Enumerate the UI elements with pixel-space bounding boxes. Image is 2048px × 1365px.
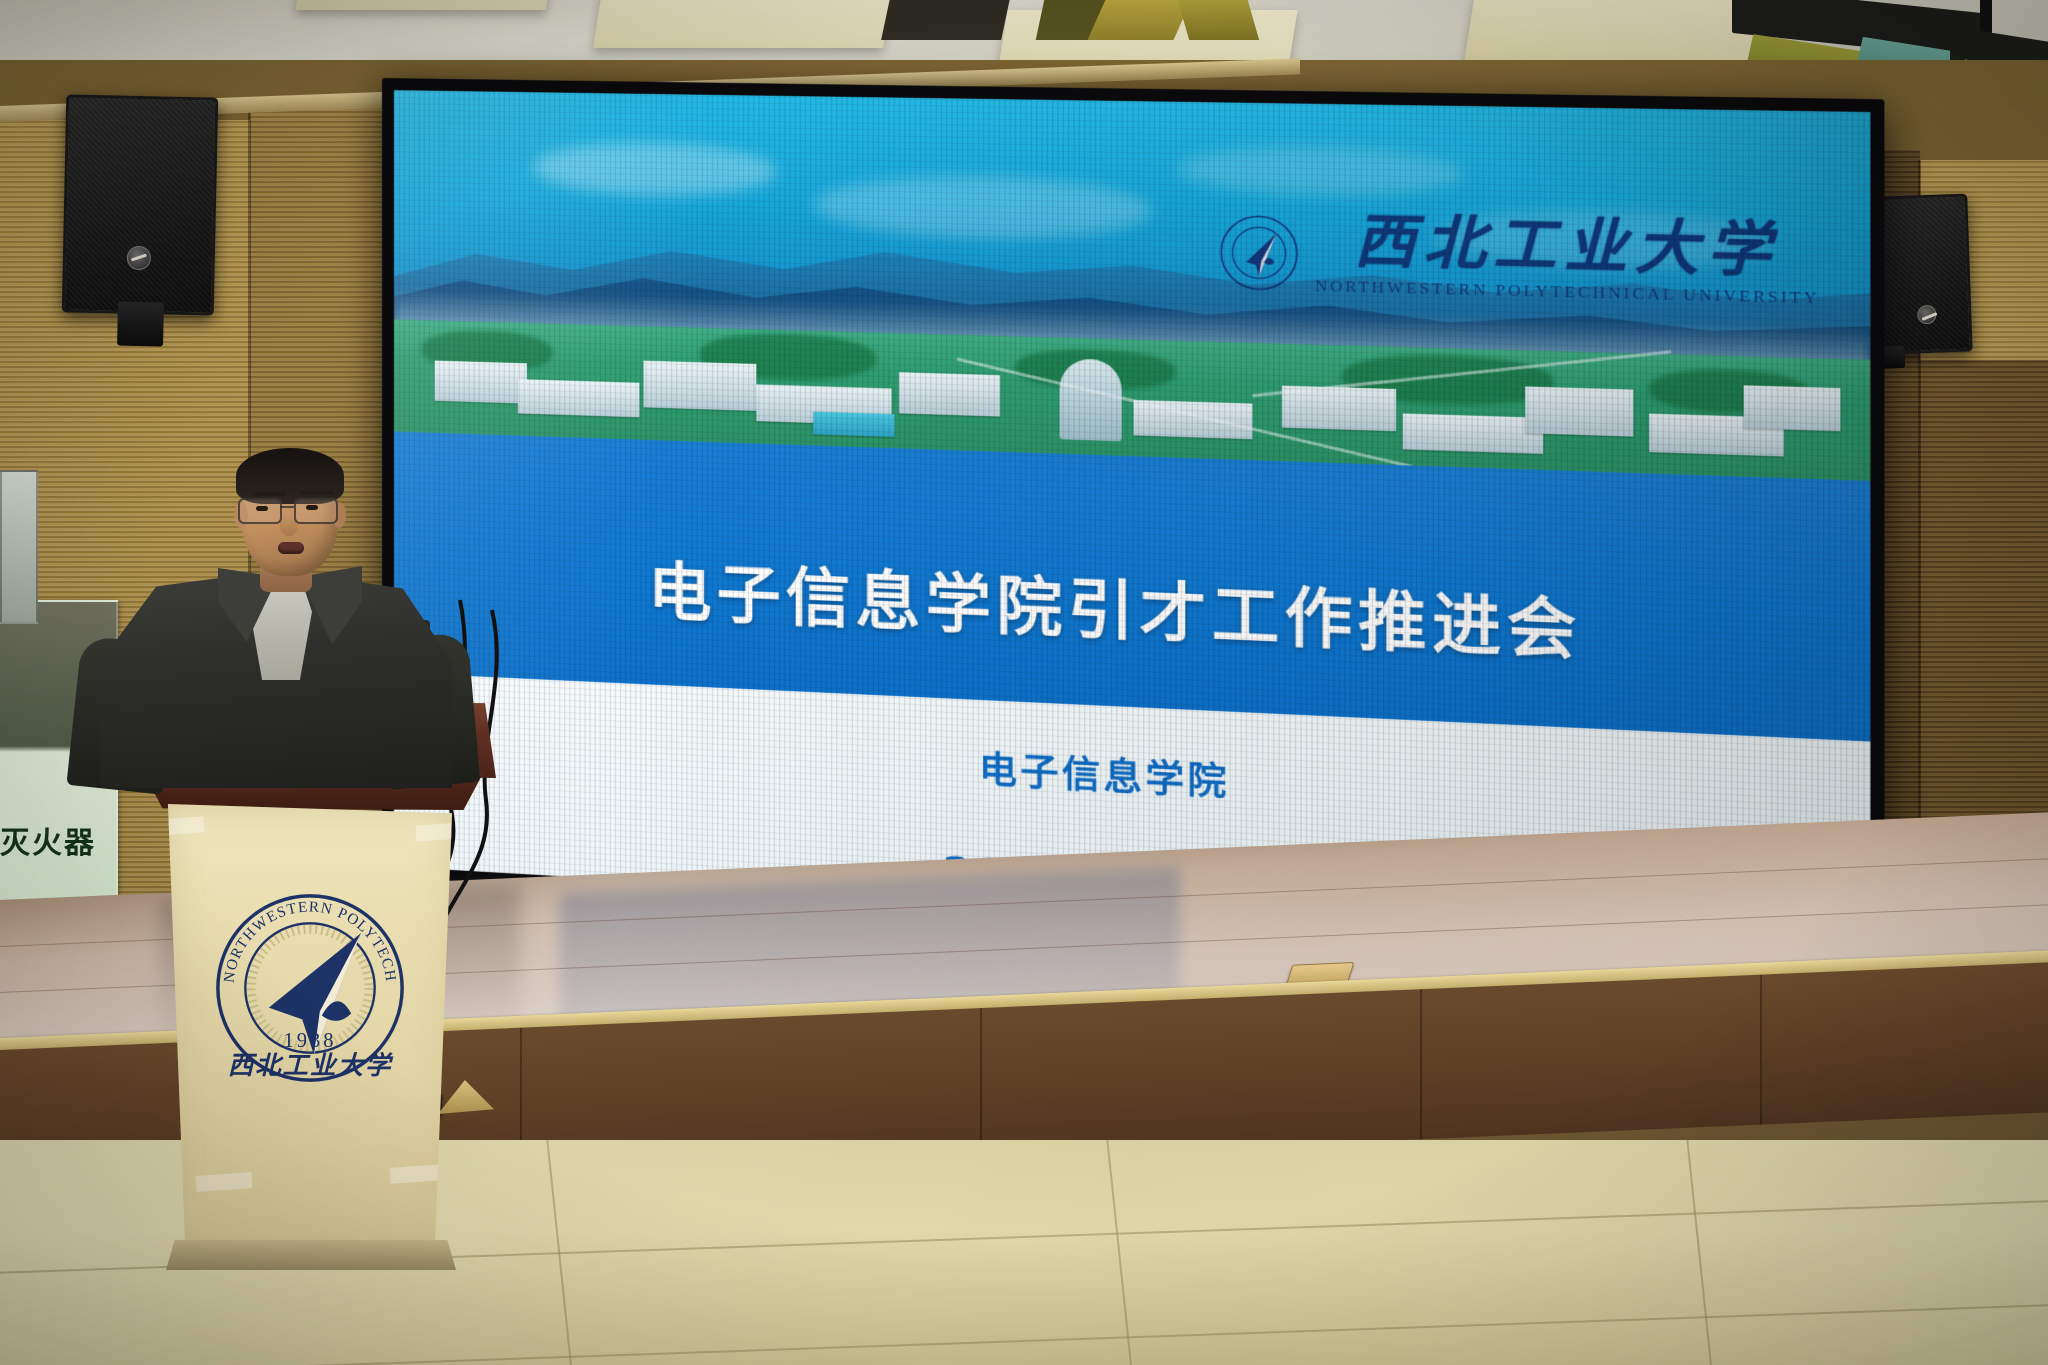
presenter-eyebrow [252,492,286,496]
lectern-base [166,1240,456,1270]
presenter [110,450,440,780]
stage-spotlight [1100,0,1270,54]
ceiling-coffer-panel [593,0,897,48]
presenter-mouth [278,542,304,554]
npu-seal-icon [1219,213,1300,292]
svg-text:西北工业大学: 西北工业大学 [228,1051,394,1081]
presenter-eye [256,506,268,511]
campus-photo: 西北工业大学 NORTHWESTERN POLYTECHNICAL UNIVER… [394,90,1871,481]
npu-logo-chinese: 西北工业大学 [1354,212,1779,281]
presenter-eye [306,505,318,510]
presenter-eyebrow [300,491,334,495]
pa-speaker-left [62,94,219,315]
eyeglasses-icon [238,498,342,522]
ceiling-recess [881,0,1011,40]
npu-seal-icon: NORTHWESTERN POLYTECHNICAL UNIVERSITY 19… [212,890,408,1086]
auditorium-scene: 灭火器 [0,0,2048,1365]
npu-logo: 西北工业大学 NORTHWESTERN POLYTECHNICAL UNIVER… [1219,210,1820,310]
svg-text:1938: 1938 [284,1030,337,1052]
ceiling-coffer-panel [296,0,555,10]
